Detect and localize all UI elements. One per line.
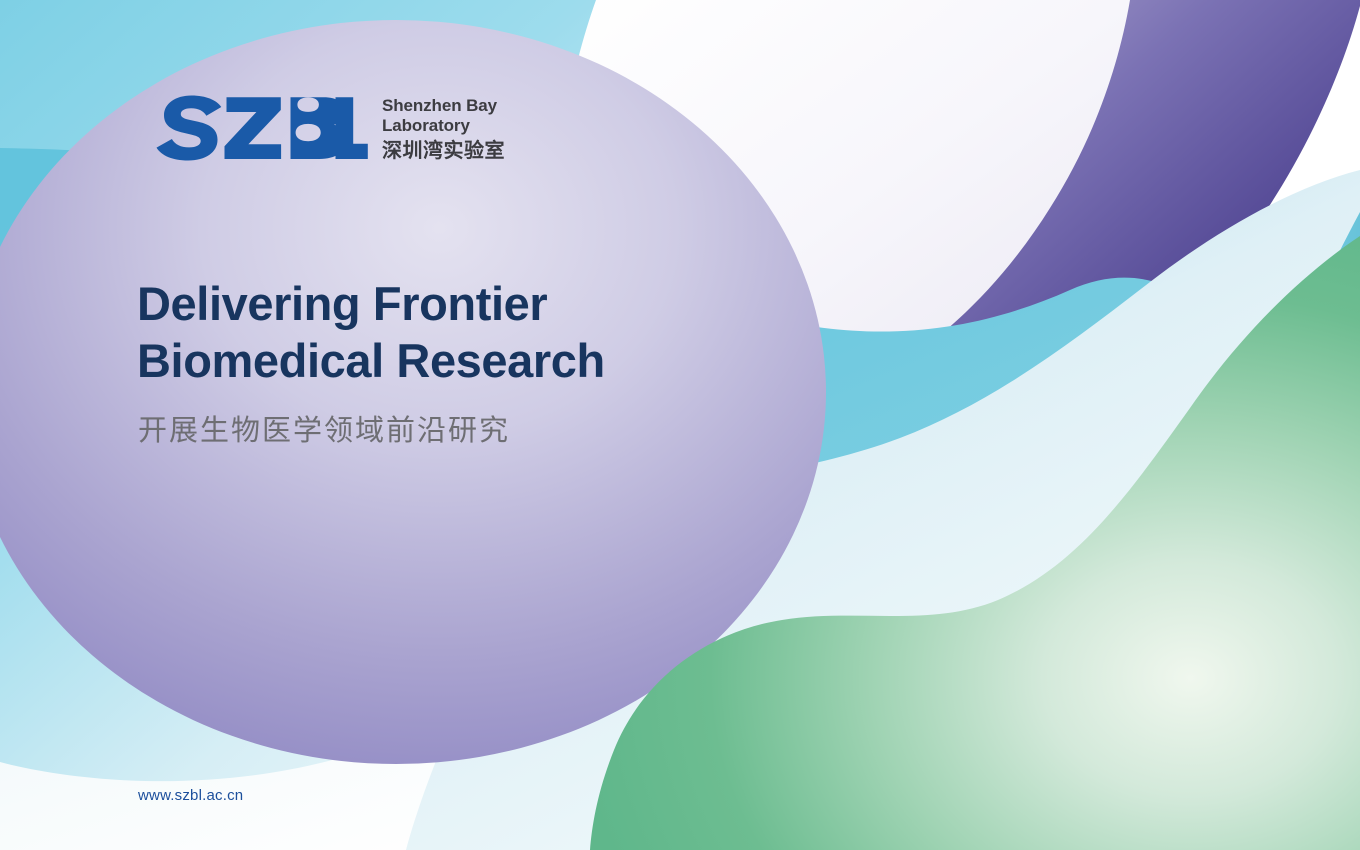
logo-name-en-line1: Shenzhen Bay xyxy=(382,96,505,116)
page-subtitle-cn: 开展生物医学领域前沿研究 xyxy=(138,412,510,448)
szbl-logo[interactable]: Shenzhen Bay Laboratory 深圳湾实验室 xyxy=(150,92,505,163)
page-title: Delivering Frontier Biomedical Research xyxy=(137,275,605,389)
headline-line-2: Biomedical Research xyxy=(137,332,605,389)
szbl-monogram-icon xyxy=(150,92,368,162)
slide-canvas: Shenzhen Bay Laboratory 深圳湾实验室 Deliverin… xyxy=(0,0,1360,850)
logo-name-cn: 深圳湾实验室 xyxy=(382,138,505,163)
logo-wordmark: Shenzhen Bay Laboratory 深圳湾实验室 xyxy=(382,92,505,163)
logo-name-en-line2: Laboratory xyxy=(382,116,505,136)
site-url-link[interactable]: www.szbl.ac.cn xyxy=(138,786,243,806)
headline-line-1: Delivering Frontier xyxy=(137,275,605,332)
